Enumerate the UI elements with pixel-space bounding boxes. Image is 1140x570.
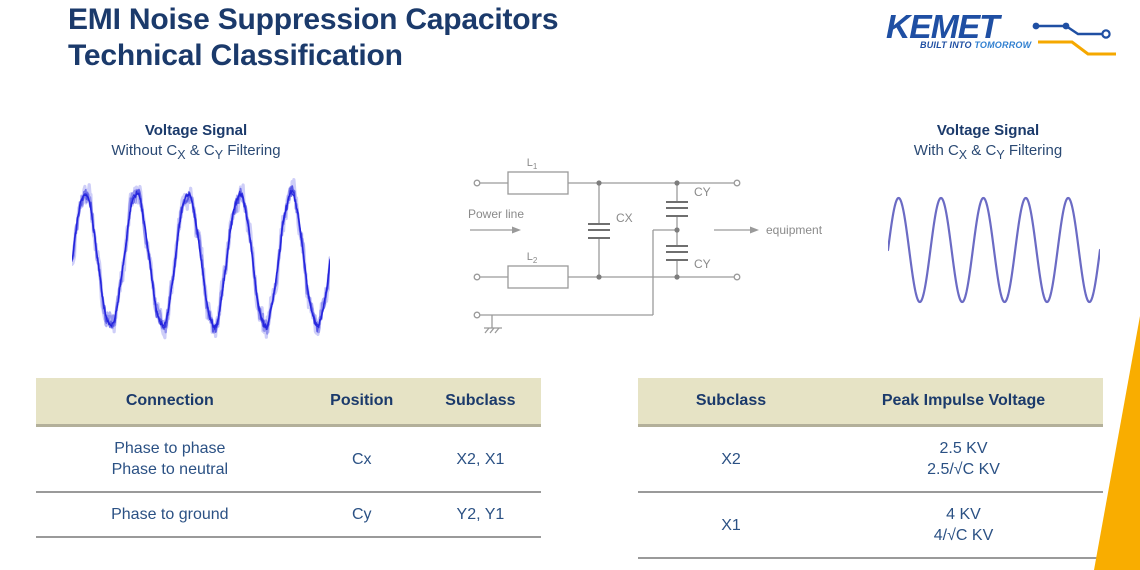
table-header-row: Connection Position Subclass	[36, 378, 541, 426]
left-caption-title: Voltage Signal	[96, 121, 296, 140]
circuit-label-cy-bottom: CY	[694, 257, 711, 271]
right-caption-subtitle: With CX & CY Filtering	[888, 140, 1088, 166]
left-caption-subtitle: Without CX & CY Filtering	[96, 140, 296, 166]
cell-subclass: Y2	[638, 558, 824, 570]
cell-subclass: X1	[638, 492, 824, 558]
logo-tagline-part2: TOMORROW	[974, 40, 1031, 50]
cell-voltage: 4 KV 4/√C KV	[824, 492, 1103, 558]
emi-filter-circuit-diagram: L1 L2 CX CY CY Power line equipment	[440, 150, 844, 350]
left-caption-sub-y: Y	[215, 148, 223, 162]
cell-position: Cy	[304, 492, 420, 537]
slide-canvas: EMI Noise Suppression Capacitors Technic…	[0, 0, 1140, 570]
connection-line-2: Phase to neutral	[40, 459, 300, 480]
cell-voltage: 5 KV	[824, 558, 1103, 570]
connection-line-1: Phase to phase	[40, 438, 300, 459]
circuit-label-power-line: Power line	[468, 207, 524, 221]
cell-position: Cx	[304, 426, 420, 493]
circuit-label-cy-top: CY	[694, 185, 711, 199]
circuit-label-equipment: equipment	[766, 223, 823, 237]
column-header-subclass: Subclass	[638, 378, 824, 426]
voltage-line-1: 2.5 KV	[828, 438, 1099, 459]
peak-impulse-voltage-table: Subclass Peak Impulse Voltage X2 2.5 KV …	[638, 378, 1103, 570]
voltage-line-2: 2.5/√C KV	[828, 459, 1099, 480]
logo-tagline-part1: BUILT INTO	[920, 40, 974, 50]
table-row: Phase to ground Cy Y2, Y1	[36, 492, 541, 537]
right-caption-suffix: Filtering	[1005, 142, 1063, 159]
right-waveform-caption: Voltage Signal With CX & CY Filtering	[888, 121, 1088, 166]
table-row: Y2 5 KV	[638, 558, 1103, 570]
right-caption-mid: & C	[967, 142, 996, 159]
circuit-label-l2: L2	[527, 251, 538, 265]
cell-connection: Phase to ground	[36, 492, 304, 537]
column-header-connection: Connection	[36, 378, 304, 426]
table-row: Phase to phase Phase to neutral Cx X2, X…	[36, 426, 541, 493]
cell-subclass: X2, X1	[420, 426, 541, 493]
column-header-peak-impulse-voltage: Peak Impulse Voltage	[824, 378, 1103, 426]
page-title: EMI Noise Suppression Capacitors Technic…	[68, 2, 728, 74]
table-row: X1 4 KV 4/√C KV	[638, 492, 1103, 558]
kemet-logo: KEMET BUILT INTO TOMORROW	[886, 6, 1122, 62]
right-caption-sub-x: X	[959, 148, 967, 162]
table-row: X2 2.5 KV 2.5/√C KV	[638, 426, 1103, 493]
title-line-1: EMI Noise Suppression Capacitors	[68, 2, 728, 38]
cell-subclass: Y2, Y1	[420, 492, 541, 537]
right-caption-prefix: With C	[914, 142, 959, 159]
connection-classification-table: Connection Position Subclass Phase to ph…	[36, 378, 541, 538]
voltage-line-2: 4/√C KV	[828, 525, 1099, 546]
circuit-label-cx: CX	[616, 211, 633, 225]
cell-connection: Phase to phase Phase to neutral	[36, 426, 304, 493]
column-header-position: Position	[304, 378, 420, 426]
noisy-waveform-graphic	[72, 168, 330, 350]
cell-voltage: 2.5 KV 2.5/√C KV	[824, 426, 1103, 493]
voltage-line-1: 4 KV	[828, 504, 1099, 525]
clean-waveform-graphic	[888, 180, 1100, 320]
left-waveform-caption: Voltage Signal Without CX & CY Filtering	[96, 121, 296, 166]
cell-subclass: X2	[638, 426, 824, 493]
table-header-row: Subclass Peak Impulse Voltage	[638, 378, 1103, 426]
left-caption-sub-x: X	[177, 148, 185, 162]
circuit-label-l1: L1	[527, 157, 538, 171]
right-caption-sub-y: Y	[996, 148, 1004, 162]
left-caption-suffix: Filtering	[223, 142, 281, 159]
logo-tagline: BUILT INTO TOMORROW	[920, 40, 1031, 50]
column-header-subclass: Subclass	[420, 378, 541, 426]
title-line-2: Technical Classification	[68, 38, 728, 74]
left-caption-prefix: Without C	[111, 142, 177, 159]
logo-circuit-trace-icon	[1032, 8, 1122, 64]
right-caption-title: Voltage Signal	[888, 121, 1088, 140]
left-caption-mid: & C	[186, 142, 215, 159]
